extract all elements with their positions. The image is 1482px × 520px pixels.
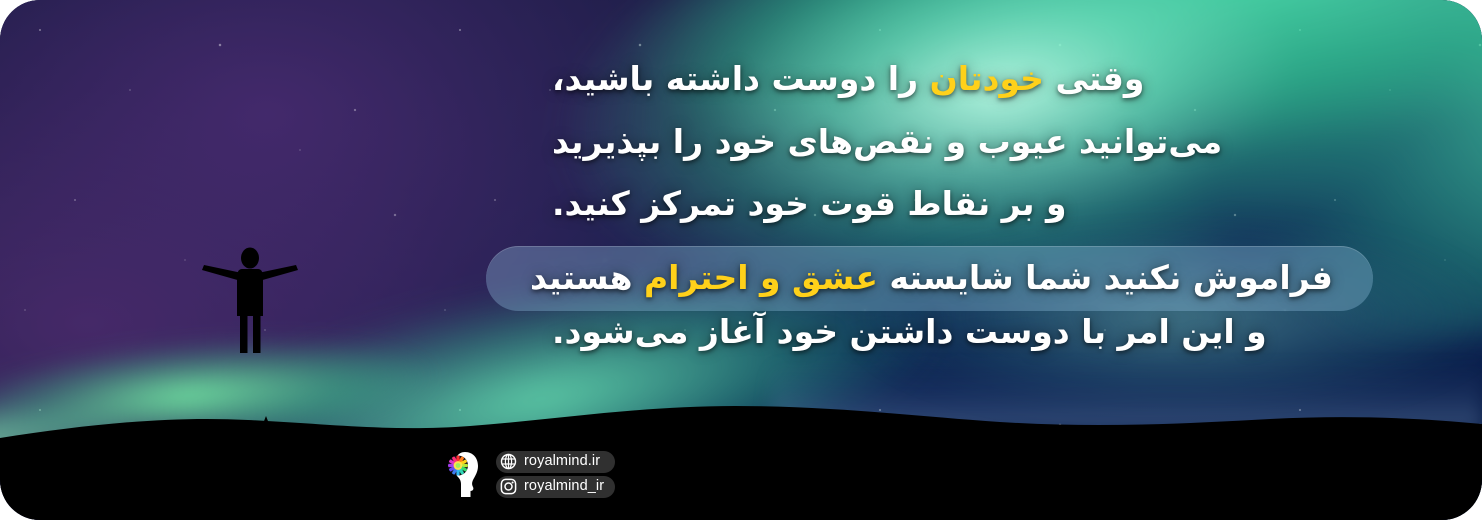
website-handle[interactable]: royalmind.ir xyxy=(496,451,615,473)
quote-line-5: و این امر با دوست داشتن خود آغاز می‌شود. xyxy=(552,311,1267,353)
quote-line-2: می‌توانید عیوب و نقص‌های خود را بپذیرید xyxy=(552,121,1222,163)
quote-text-block: وقتی خودتان را دوست داشته باشید، می‌توان… xyxy=(552,0,1482,430)
instagram-handle[interactable]: royalmind_ir xyxy=(496,476,615,498)
social-handles: royalmind.ir royalmind_ir xyxy=(496,451,615,498)
globe-icon xyxy=(500,453,517,470)
quote-line-1-part-1: وقتی xyxy=(1044,59,1144,98)
quote-line-1: وقتی خودتان را دوست داشته باشید، xyxy=(552,58,1144,100)
brand-footer: royalmind.ir royalmind_ir xyxy=(443,450,615,498)
highlighted-quote-pill: فراموش نکنید شما شایسته عشق و احترام هست… xyxy=(486,246,1373,312)
instagram-icon xyxy=(500,478,517,495)
quote-line-3: و بر نقاط قوت خود تمرکز کنید. xyxy=(552,183,1067,225)
quote-card: وقتی خودتان را دوست داشته باشید، می‌توان… xyxy=(0,0,1482,520)
quote-line-4-part-3: هستید xyxy=(530,258,644,297)
quote-line-4-part-1: فراموش نکنید شما شایسته xyxy=(878,258,1333,297)
head-profile-with-rainbow-brain-icon xyxy=(443,450,487,498)
instagram-handle-label: royalmind_ir xyxy=(524,477,604,496)
quote-line-4-highlight: عشق و احترام xyxy=(644,258,878,297)
quote-line-1-part-3: را دوست داشته باشید، xyxy=(552,59,930,98)
website-handle-label: royalmind.ir xyxy=(524,452,600,471)
person-arms-raised-icon xyxy=(198,245,302,355)
quote-line-4: فراموش نکنید شما شایسته عشق و احترام هست… xyxy=(530,257,1333,299)
quote-line-1-highlight: خودتان xyxy=(930,59,1044,98)
